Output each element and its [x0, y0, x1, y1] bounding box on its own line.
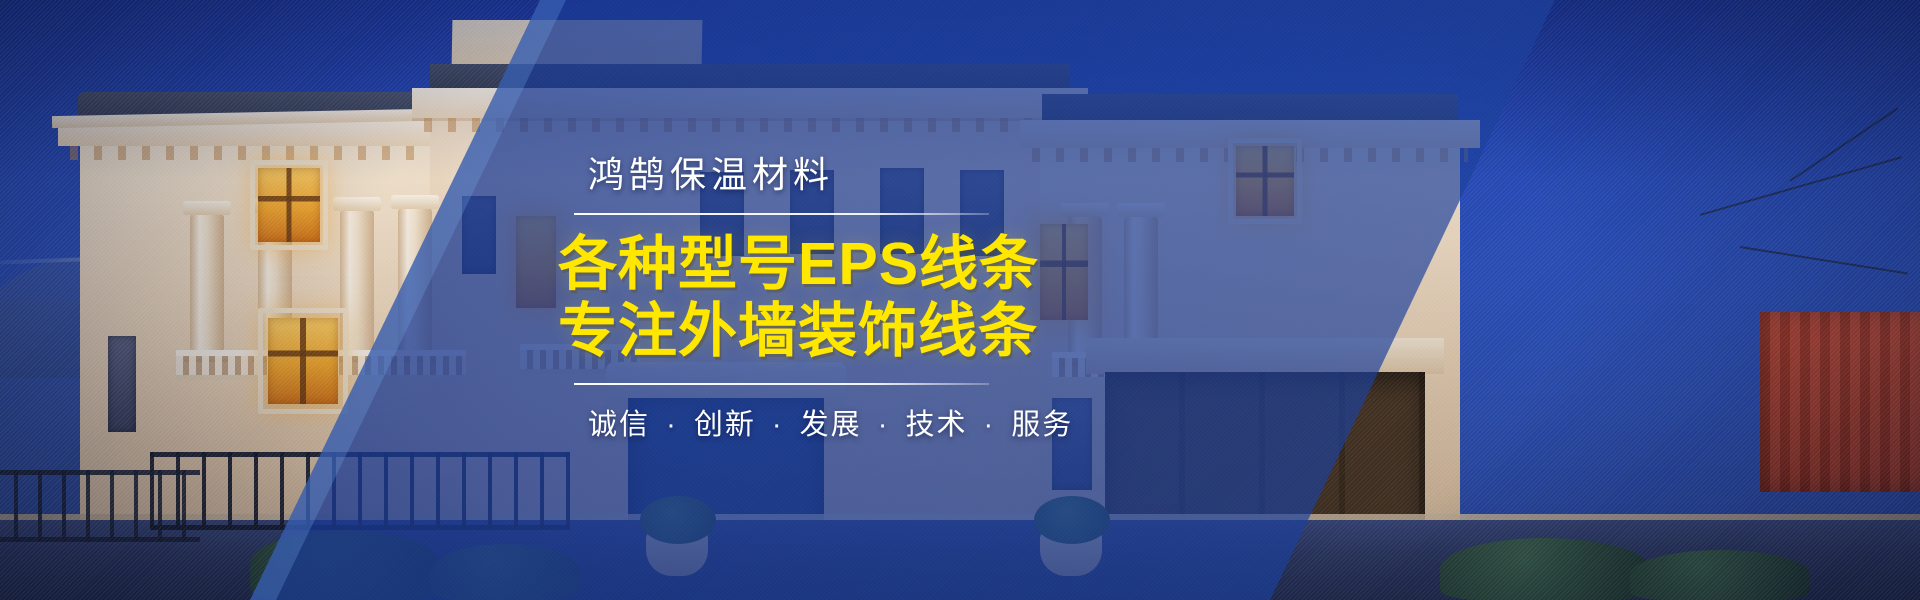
promo-banner: 鸿鹄保温材料 各种型号EPS线条 专注外墙装饰线条 诚信 · 创新 · 发展 ·… [0, 0, 1920, 600]
tagline-separator: · [660, 409, 684, 441]
tagline-separator: · [978, 409, 1002, 441]
banner-text-block: 鸿鹄保温材料 各种型号EPS线条 专注外墙装饰线条 诚信 · 创新 · 发展 ·… [556, 0, 1316, 600]
headline-line-1: 各种型号EPS线条 [558, 231, 1316, 298]
tagline-item-5: 服务 [1011, 409, 1073, 441]
tagline: 诚信 · 创新 · 发展 · 技术 · 服务 [588, 401, 1316, 443]
divider-bottom [574, 383, 989, 385]
tagline-item-3: 发展 [800, 409, 862, 441]
headline: 各种型号EPS线条 专注外墙装饰线条 [558, 231, 1316, 364]
tagline-item-1: 诚信 [588, 409, 650, 441]
tagline-separator: · [766, 409, 790, 441]
tagline-item-2: 创新 [694, 409, 756, 441]
tagline-separator: · [872, 409, 896, 441]
headline-line-2: 专注外墙装饰线条 [558, 298, 1316, 365]
divider-top [574, 213, 989, 215]
brand-name: 鸿鹄保温材料 [588, 157, 1316, 193]
tagline-item-4: 技术 [905, 409, 967, 441]
